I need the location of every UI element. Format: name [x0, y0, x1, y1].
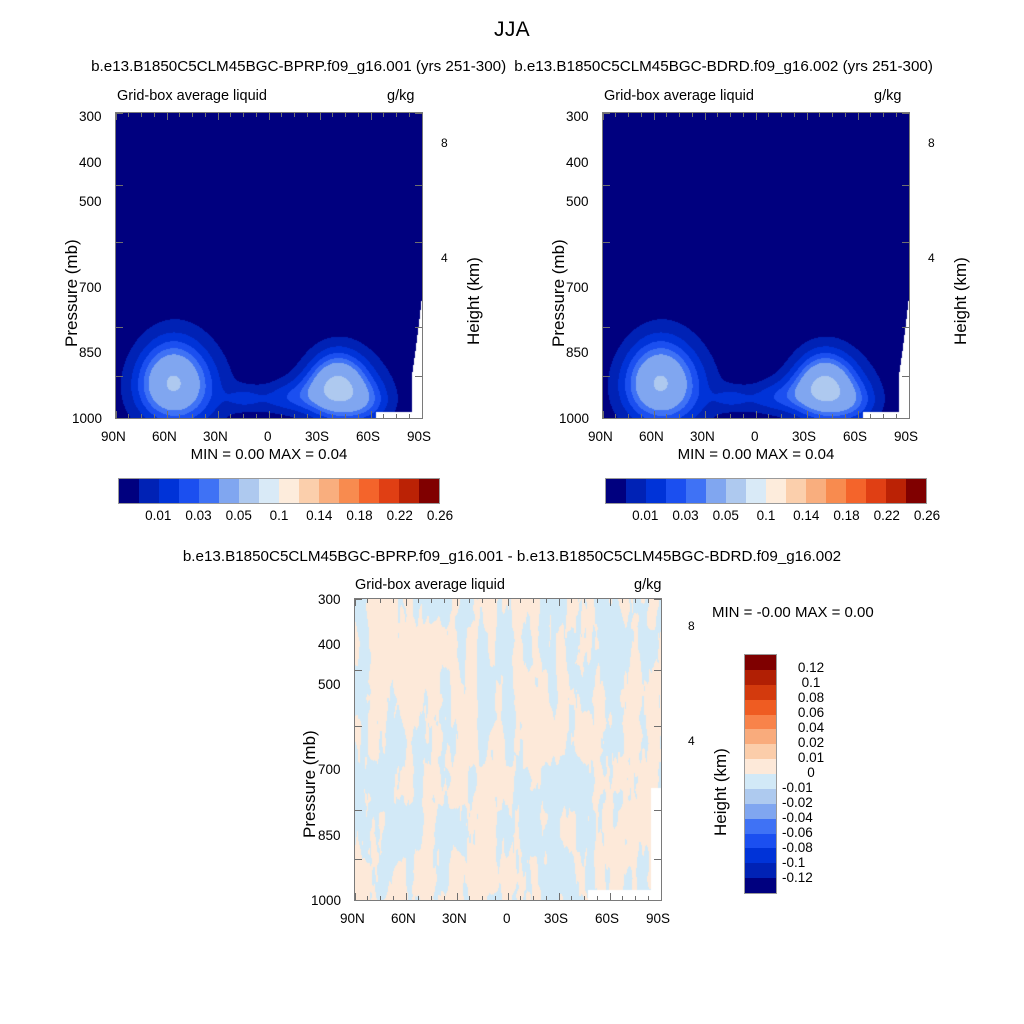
left-xtick-30N: 30N: [203, 429, 228, 444]
axis-tick: [730, 113, 731, 117]
height-axis-tick: [909, 295, 910, 296]
axis-tick: [883, 414, 884, 418]
left-xtick-0: 0: [264, 429, 272, 444]
axis-tick: [355, 900, 362, 901]
diff-panel-colorbar-labels: 0.120.10.080.060.040.020.010-0.01-0.02-0…: [782, 654, 842, 894]
axis-tick: [571, 599, 572, 603]
left-ytick-400: 400: [79, 155, 102, 170]
colorbar-cell: [826, 479, 846, 503]
colorbar-tick-label: 0: [782, 765, 840, 780]
colorbar-cell: [745, 878, 776, 893]
axis-tick: [393, 599, 394, 603]
axis-tick: [422, 113, 423, 120]
axis-tick: [116, 113, 117, 120]
axis-tick: [559, 599, 560, 606]
right-panel-colorbar[interactable]: [605, 478, 927, 504]
colorbar-cell: [806, 479, 826, 503]
axis-tick: [571, 896, 572, 900]
colorbar-cell: [666, 479, 686, 503]
axis-tick: [406, 893, 407, 900]
axis-tick: [743, 414, 744, 418]
colorbar-cell: [745, 670, 776, 685]
axis-tick: [415, 242, 422, 243]
colorbar-cell: [219, 479, 239, 503]
diff-panel-y2-axis-label: Height (km): [711, 748, 731, 836]
axis-tick: [781, 414, 782, 418]
axis-tick: [218, 113, 219, 120]
colorbar-tick-label: 0.04: [782, 720, 840, 735]
axis-tick: [654, 670, 661, 671]
axis-tick: [902, 376, 909, 377]
axis-tick: [615, 113, 616, 117]
diff-panel-case-title: b.e13.B1850C5CLM45BGC-BPRP.f09_g16.001 -…: [0, 548, 1024, 565]
axis-tick: [128, 113, 129, 117]
axis-tick: [444, 599, 445, 603]
axis-tick: [902, 418, 909, 419]
axis-tick: [269, 113, 270, 120]
left-panel-colorbar-labels: 0.010.030.050.10.140.180.220.26: [118, 508, 440, 526]
axis-tick: [858, 113, 859, 120]
axis-tick: [256, 113, 257, 117]
axis-tick: [345, 113, 346, 117]
colorbar-cell: [866, 479, 886, 503]
axis-tick: [654, 411, 655, 418]
diff-xtick-30S: 30S: [544, 911, 568, 926]
axis-tick: [743, 113, 744, 117]
axis-tick: [332, 414, 333, 418]
right-ytick-300: 300: [566, 109, 589, 124]
left-ytick-500: 500: [79, 194, 102, 209]
axis-tick: [116, 327, 123, 328]
axis-tick: [807, 411, 808, 418]
axis-tick: [654, 726, 661, 727]
axis-tick: [603, 242, 610, 243]
axis-tick: [641, 414, 642, 418]
axis-tick: [603, 418, 610, 419]
colorbar-cell: [886, 479, 906, 503]
diff-panel-variable-title: Grid-box average liquid: [355, 577, 505, 593]
axis-tick: [661, 599, 662, 606]
axis-tick: [584, 599, 585, 603]
axis-tick: [717, 113, 718, 117]
axis-tick: [584, 896, 585, 900]
axis-tick: [230, 113, 231, 117]
axis-tick: [622, 896, 623, 900]
right-panel-colorbar-labels: 0.010.030.050.10.140.180.220.26: [605, 508, 927, 526]
axis-tick: [154, 113, 155, 117]
axis-tick: [367, 896, 368, 900]
left-panel-y2-axis-label: Height (km): [464, 257, 484, 345]
axis-tick: [902, 242, 909, 243]
right-y2tick-4: 4: [928, 251, 935, 265]
axis-tick: [294, 414, 295, 418]
axis-tick: [355, 810, 362, 811]
colorbar-cell: [179, 479, 199, 503]
right-xtick-90N: 90N: [588, 429, 613, 444]
axis-tick: [383, 113, 384, 117]
diff-panel-minmax: MIN = -0.00 MAX = 0.00: [712, 604, 874, 621]
axis-tick: [116, 242, 123, 243]
axis-tick: [141, 113, 142, 117]
axis-tick: [116, 376, 123, 377]
axis-tick: [469, 896, 470, 900]
axis-tick: [705, 113, 706, 120]
diff-xtick-90S: 90S: [646, 911, 670, 926]
colorbar-cell: [745, 804, 776, 819]
colorbar-cell: [846, 479, 866, 503]
right-ytick-850: 850: [566, 345, 589, 360]
axis-tick: [418, 599, 419, 603]
axis-tick: [294, 113, 295, 117]
left-panel-plot-area[interactable]: [115, 112, 423, 419]
right-panel-plot-area[interactable]: [602, 112, 910, 419]
axis-tick: [371, 113, 372, 120]
axis-tick: [508, 599, 509, 606]
left-ytick-1000: 1000: [72, 411, 102, 426]
diff-panel-plot-area[interactable]: [354, 598, 662, 901]
axis-tick: [192, 414, 193, 418]
right-ytick-400: 400: [566, 155, 589, 170]
axis-tick: [768, 414, 769, 418]
axis-tick: [243, 414, 244, 418]
axis-tick: [457, 599, 458, 606]
axis-tick: [845, 113, 846, 117]
axis-tick: [832, 414, 833, 418]
colorbar-cell: [745, 715, 776, 730]
right-xtick-30S: 30S: [792, 429, 816, 444]
left-ytick-700: 700: [79, 280, 102, 295]
axis-tick: [205, 414, 206, 418]
diff-xtick-60S: 60S: [595, 911, 619, 926]
diff-ytick-400: 400: [318, 637, 341, 652]
axis-tick: [679, 113, 680, 117]
axis-tick: [679, 414, 680, 418]
axis-tick: [154, 414, 155, 418]
diff-ytick-1000: 1000: [311, 893, 341, 908]
axis-tick: [406, 599, 407, 606]
colorbar-cell: [706, 479, 726, 503]
colorbar-tick-label: 0.12: [782, 660, 840, 675]
axis-tick: [858, 411, 859, 418]
axis-tick: [380, 896, 381, 900]
axis-tick: [457, 893, 458, 900]
axis-tick: [705, 411, 706, 418]
axis-tick: [281, 414, 282, 418]
diff-y2tick-4: 4: [688, 734, 695, 748]
axis-tick: [648, 896, 649, 900]
left-panel-minmax: MIN = 0.00 MAX = 0.04: [0, 446, 538, 463]
colorbar-tick-label: 0.06: [782, 705, 840, 720]
axis-tick: [610, 599, 611, 606]
right-ytick-1000: 1000: [559, 411, 589, 426]
colorbar-tick-label: -0.01: [782, 780, 840, 795]
axis-tick: [415, 327, 422, 328]
colorbar-cell: [745, 819, 776, 834]
diff-ytick-300: 300: [318, 592, 341, 607]
axis-tick: [692, 414, 693, 418]
axis-tick: [666, 414, 667, 418]
axis-tick: [205, 113, 206, 117]
right-ytick-500: 500: [566, 194, 589, 209]
axis-tick: [610, 893, 611, 900]
colorbar-tick-label: -0.08: [782, 840, 840, 855]
colorbar-cell: [745, 848, 776, 863]
axis-tick: [355, 599, 362, 600]
contour-field: [603, 113, 909, 418]
diff-xtick-60N: 60N: [391, 911, 416, 926]
diff-panel-units: g/kg: [634, 577, 661, 593]
colorbar-tick-label: 0.26: [416, 508, 464, 523]
colorbar-cell: [746, 479, 766, 503]
left-panel-variable-title: Grid-box average liquid: [117, 88, 267, 104]
axis-tick: [495, 599, 496, 603]
colorbar-cell: [419, 479, 439, 503]
axis-tick: [482, 896, 483, 900]
height-axis-tick: [422, 156, 423, 157]
axis-tick: [367, 599, 368, 603]
axis-tick: [269, 411, 270, 418]
axis-tick: [756, 113, 757, 120]
axis-tick: [794, 113, 795, 117]
axis-tick: [794, 414, 795, 418]
colorbar-cell: [726, 479, 746, 503]
axis-tick: [256, 414, 257, 418]
axis-tick: [870, 414, 871, 418]
colorbar-cell: [359, 479, 379, 503]
axis-tick: [597, 896, 598, 900]
axis-tick: [603, 327, 610, 328]
axis-tick: [520, 599, 521, 603]
axis-tick: [431, 896, 432, 900]
axis-tick: [355, 670, 362, 671]
height-axis-tick: [661, 778, 662, 779]
axis-tick: [358, 414, 359, 418]
colorbar-cell: [339, 479, 359, 503]
colorbar-cell: [279, 479, 299, 503]
axis-tick: [845, 414, 846, 418]
colorbar-tick-label: 0.02: [782, 735, 840, 750]
height-axis-tick: [661, 641, 662, 642]
axis-tick: [179, 414, 180, 418]
colorbar-cell: [259, 479, 279, 503]
axis-tick: [418, 896, 419, 900]
axis-tick: [641, 113, 642, 117]
colorbar-cell: [745, 700, 776, 715]
colorbar-cell: [299, 479, 319, 503]
diff-panel-colorbar[interactable]: [744, 654, 777, 894]
axis-tick: [635, 599, 636, 603]
colorbar-cell: [906, 479, 926, 503]
axis-tick: [415, 185, 422, 186]
contour-field: [116, 113, 422, 418]
axis-tick: [597, 599, 598, 603]
axis-tick: [717, 414, 718, 418]
diff-ytick-850: 850: [318, 828, 341, 843]
axis-tick: [345, 414, 346, 418]
colorbar-tick-label: 0.08: [782, 690, 840, 705]
diff-ytick-700: 700: [318, 762, 341, 777]
axis-tick: [654, 113, 655, 120]
axis-tick: [383, 414, 384, 418]
axis-tick: [819, 414, 820, 418]
colorbar-tick-label: -0.1: [782, 855, 840, 870]
axis-tick: [482, 599, 483, 603]
colorbar-cell: [745, 789, 776, 804]
axis-tick: [167, 411, 168, 418]
colorbar-cell: [119, 479, 139, 503]
colorbar-cell: [766, 479, 786, 503]
colorbar-tick-label: -0.04: [782, 810, 840, 825]
axis-tick: [495, 896, 496, 900]
right-xtick-60S: 60S: [843, 429, 867, 444]
colorbar-cell: [745, 685, 776, 700]
axis-tick: [648, 599, 649, 603]
right-panel-y2-axis-label: Height (km): [951, 257, 971, 345]
left-panel-colorbar[interactable]: [118, 478, 440, 504]
axis-tick: [902, 113, 909, 114]
colorbar-tick-label: 0.01: [782, 750, 840, 765]
diff-panel-y-axis-label: Pressure (mb): [300, 730, 320, 838]
colorbar-cell: [399, 479, 419, 503]
colorbar-tick-label: 0.26: [903, 508, 951, 523]
colorbar-cell: [319, 479, 339, 503]
axis-tick: [380, 599, 381, 603]
season-title: JJA: [0, 18, 1024, 42]
axis-tick: [307, 414, 308, 418]
axis-tick: [883, 113, 884, 117]
axis-tick: [807, 113, 808, 120]
height-axis-tick: [422, 295, 423, 296]
colorbar-cell: [745, 863, 776, 878]
diff-xtick-30N: 30N: [442, 911, 467, 926]
colorbar-cell: [745, 729, 776, 744]
axis-tick: [533, 896, 534, 900]
axis-tick: [409, 113, 410, 117]
axis-tick: [870, 113, 871, 117]
right-panel-variable-title: Grid-box average liquid: [604, 88, 754, 104]
axis-tick: [508, 893, 509, 900]
axis-tick: [819, 113, 820, 117]
colorbar-cell: [745, 834, 776, 849]
axis-tick: [415, 418, 422, 419]
axis-tick: [320, 113, 321, 120]
axis-tick: [332, 113, 333, 117]
colorbar-cell: [379, 479, 399, 503]
axis-tick: [692, 113, 693, 117]
left-xtick-90S: 90S: [407, 429, 431, 444]
axis-tick: [116, 185, 123, 186]
right-xtick-60N: 60N: [639, 429, 664, 444]
axis-tick: [902, 185, 909, 186]
right-xtick-0: 0: [751, 429, 759, 444]
right-panel-units: g/kg: [874, 88, 901, 104]
axis-tick: [603, 113, 610, 114]
colorbar-cell: [239, 479, 259, 503]
diff-xtick-90N: 90N: [340, 911, 365, 926]
right-y2tick-8: 8: [928, 136, 935, 150]
axis-tick: [781, 113, 782, 117]
axis-tick: [654, 599, 661, 600]
axis-tick: [533, 599, 534, 603]
left-ytick-850: 850: [79, 345, 102, 360]
axis-tick: [756, 411, 757, 418]
case-title-right: b.e13.B1850C5CLM45BGC-BDRD.f09_g16.002 (…: [514, 58, 933, 75]
colorbar-cell: [745, 655, 776, 670]
colorbar-cell: [745, 774, 776, 789]
axis-tick: [520, 896, 521, 900]
left-panel-units: g/kg: [387, 88, 414, 104]
colorbar-tick-label: -0.06: [782, 825, 840, 840]
axis-tick: [192, 113, 193, 117]
colorbar-cell: [139, 479, 159, 503]
axis-tick: [116, 418, 123, 419]
axis-tick: [218, 411, 219, 418]
axis-tick: [559, 893, 560, 900]
diff-xtick-0: 0: [503, 911, 511, 926]
axis-tick: [358, 113, 359, 117]
axis-tick: [546, 896, 547, 900]
case-title-left: b.e13.B1850C5CLM45BGC-BPRP.f09_g16.001 (…: [91, 58, 506, 75]
height-axis-tick: [909, 156, 910, 157]
axis-tick: [281, 113, 282, 117]
axis-tick: [603, 113, 604, 120]
colorbar-tick-label: 0.1: [782, 675, 840, 690]
axis-tick: [628, 414, 629, 418]
axis-tick: [393, 896, 394, 900]
left-ytick-300: 300: [79, 109, 102, 124]
axis-tick: [396, 414, 397, 418]
axis-tick: [654, 859, 661, 860]
left-xtick-60S: 60S: [356, 429, 380, 444]
colorbar-cell: [626, 479, 646, 503]
axis-tick: [355, 859, 362, 860]
axis-tick: [654, 810, 661, 811]
case-titles-row: b.e13.B1850C5CLM45BGC-BPRP.f09_g16.001 (…: [0, 58, 1024, 75]
axis-tick: [469, 599, 470, 603]
left-xtick-30S: 30S: [305, 429, 329, 444]
axis-tick: [628, 113, 629, 117]
right-ytick-700: 700: [566, 280, 589, 295]
colorbar-cell: [199, 479, 219, 503]
axis-tick: [615, 414, 616, 418]
axis-tick: [635, 896, 636, 900]
axis-tick: [654, 900, 661, 901]
axis-tick: [320, 411, 321, 418]
axis-tick: [603, 185, 610, 186]
right-xtick-30N: 30N: [690, 429, 715, 444]
colorbar-tick-label: -0.02: [782, 795, 840, 810]
axis-tick: [243, 113, 244, 117]
left-xtick-60N: 60N: [152, 429, 177, 444]
diff-ytick-500: 500: [318, 677, 341, 692]
colorbar-cell: [745, 744, 776, 759]
axis-tick: [128, 414, 129, 418]
colorbar-cell: [646, 479, 666, 503]
colorbar-cell: [606, 479, 626, 503]
axis-tick: [730, 414, 731, 418]
axis-tick: [230, 414, 231, 418]
axis-tick: [141, 414, 142, 418]
axis-tick: [355, 599, 356, 606]
axis-tick: [666, 113, 667, 117]
axis-tick: [896, 414, 897, 418]
left-y2tick-8: 8: [441, 136, 448, 150]
axis-tick: [768, 113, 769, 117]
left-xtick-90N: 90N: [101, 429, 126, 444]
colorbar-cell: [159, 479, 179, 503]
colorbar-cell: [745, 759, 776, 774]
axis-tick: [371, 411, 372, 418]
